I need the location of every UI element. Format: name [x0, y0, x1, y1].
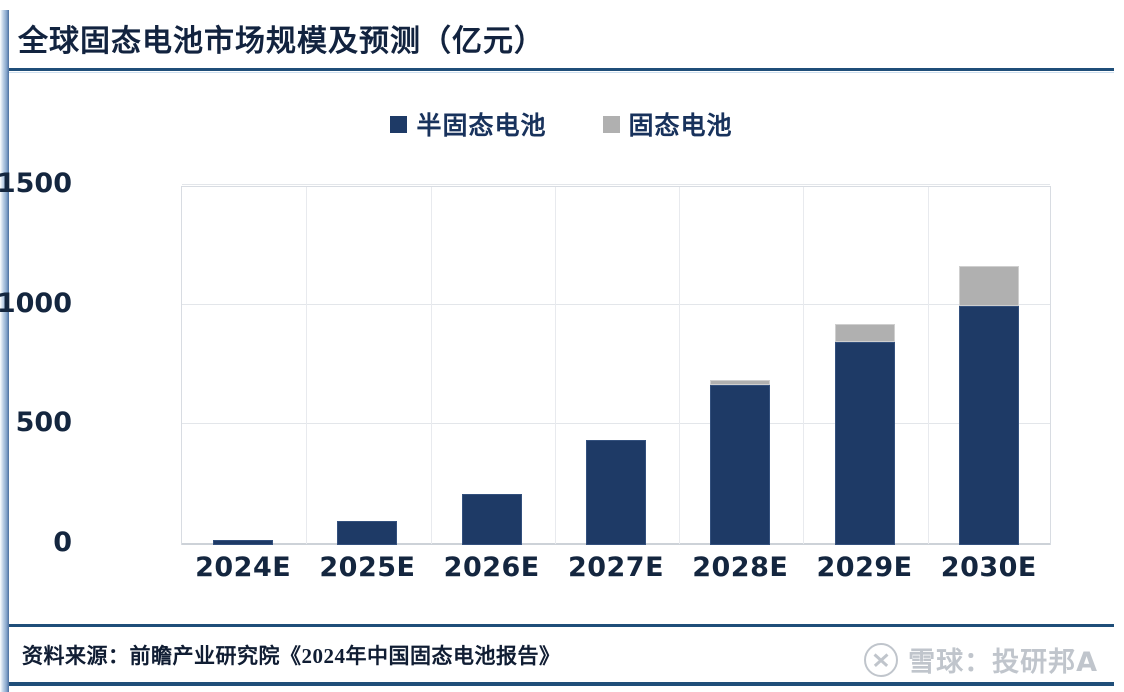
bar-segment-semi-solid-2026E[interactable]: [462, 494, 522, 545]
stacked-bar-2029E[interactable]: [835, 324, 895, 545]
slide-page: 全球固态电池市场规模及预测（亿元） 半固态电池 固态电池 2024E2025E2…: [0, 0, 1124, 692]
legend-label-solid: 固态电池: [629, 106, 733, 142]
bar-slot-2028E: [678, 186, 802, 545]
bar-segment-semi-solid-2030E[interactable]: [959, 306, 1019, 545]
watermark: 雪球：投研邦A: [864, 640, 1098, 679]
bar-segment-semi-solid-2027E[interactable]: [586, 440, 646, 545]
source-note: 资料来源：前瞻产业研究院《2024年中国固态电池报告》: [22, 640, 561, 670]
page-title: 全球固态电池市场规模及预测（亿元）: [9, 16, 545, 60]
bar-slot-2025E: [305, 186, 429, 545]
bar-slot-2029E: [802, 186, 926, 545]
legend-swatch-icon-solid: [603, 116, 620, 133]
left-accent-gap: [0, 0, 9, 10]
bar-segment-solid-2029E[interactable]: [835, 324, 895, 342]
x-axis-tick-2024E: 2024E: [181, 552, 305, 583]
stacked-bar-2028E[interactable]: [710, 380, 770, 545]
title-divider-highlight: [9, 72, 1114, 73]
x-axis-labels: 2024E2025E2026E2027E2028E2029E2030E: [181, 552, 1051, 583]
stacked-bar-2030E[interactable]: [959, 266, 1019, 545]
bar-slot-2026E: [430, 186, 554, 545]
footer-divider-top: [9, 624, 1114, 627]
x-axis-tick-2028E: 2028E: [678, 552, 802, 583]
x-axis-tick-2025E: 2025E: [305, 552, 429, 583]
stacked-bar-2027E[interactable]: [586, 440, 646, 545]
title-bar: 全球固态电池市场规模及预测（亿元）: [9, 10, 1124, 66]
left-accent-bar: [0, 0, 9, 692]
bar-segment-solid-2030E[interactable]: [959, 266, 1019, 305]
bar-slot-2030E: [927, 186, 1051, 545]
x-axis-tick-2030E: 2030E: [927, 552, 1051, 583]
legend-label-semi-solid: 半固态电池: [416, 106, 546, 142]
bar-slot-2027E: [554, 186, 678, 545]
bar-group: [181, 186, 1051, 545]
legend-item-semi-solid[interactable]: 半固态电池: [390, 106, 546, 142]
bar-segment-semi-solid-2028E[interactable]: [710, 385, 770, 545]
y-axis-tick-500: 500: [0, 407, 72, 438]
gridline-1500: [182, 184, 1050, 185]
y-axis-tick-1000: 1000: [0, 288, 72, 319]
bar-segment-semi-solid-2025E[interactable]: [337, 521, 397, 545]
legend-swatch-icon-semi-solid: [390, 116, 407, 133]
x-axis-tick-2027E: 2027E: [554, 552, 678, 583]
chart-legend: 半固态电池 固态电池: [9, 106, 1114, 142]
x-axis-tick-2029E: 2029E: [802, 552, 926, 583]
bar-slot-2024E: [181, 186, 305, 545]
y-axis-tick-0: 0: [0, 527, 72, 558]
xueqiu-logo-icon: [864, 643, 898, 677]
watermark-label: 雪球：投研邦A: [908, 640, 1098, 679]
stacked-bar-2024E[interactable]: [213, 540, 273, 545]
bar-segment-semi-solid-2024E[interactable]: [213, 540, 273, 545]
footer-divider-bottom: [9, 682, 1114, 686]
bar-segment-semi-solid-2029E[interactable]: [835, 342, 895, 545]
title-divider: [9, 68, 1114, 71]
stacked-bar-2025E[interactable]: [337, 521, 397, 545]
y-axis-tick-1500: 1500: [0, 168, 72, 199]
x-axis-tick-2026E: 2026E: [430, 552, 554, 583]
stacked-bar-2026E[interactable]: [462, 494, 522, 545]
legend-item-solid[interactable]: 固态电池: [603, 106, 733, 142]
chart-container: 半固态电池 固态电池 2024E2025E2026E2027E2028E2029…: [9, 78, 1124, 618]
